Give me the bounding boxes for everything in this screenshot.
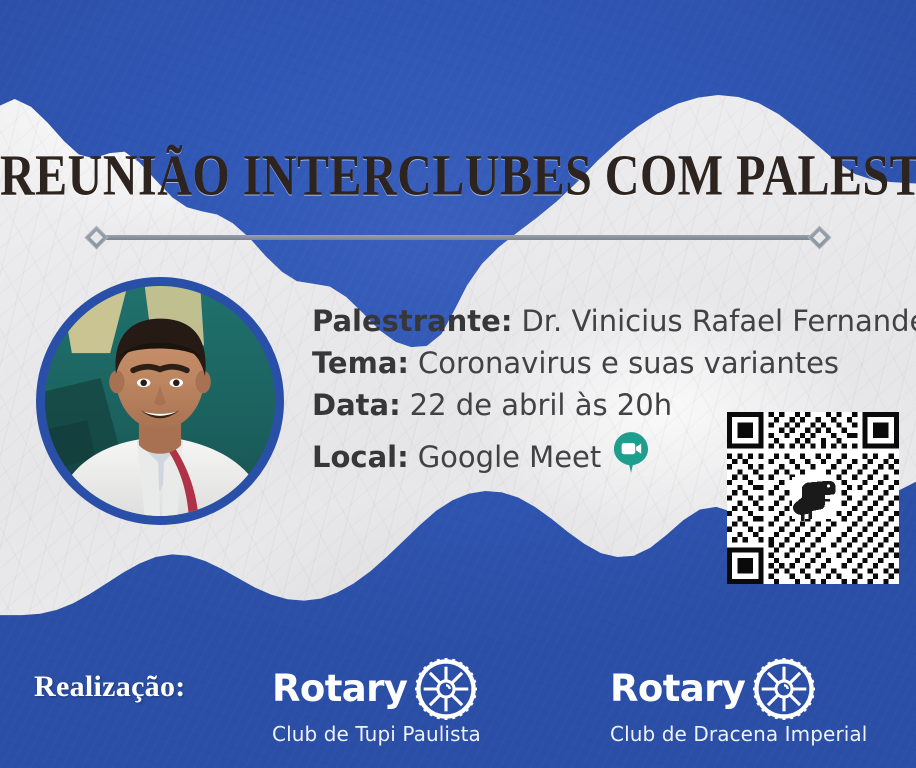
divider-ornament (88, 228, 828, 246)
detail-label-location: Local: (312, 436, 409, 478)
portrait-photo-icon (45, 286, 275, 516)
speaker-photo (36, 277, 284, 525)
detail-value-topic: Coronavirus e suas variantes (418, 342, 839, 384)
google-meet-icon[interactable] (614, 432, 648, 466)
detail-label-speaker: Palestrante: (312, 300, 512, 342)
event-poster: REUNIÃO INTERCLUBES COM PALESTRA (0, 0, 916, 768)
detail-value-date: 22 de abril às 20h (410, 384, 672, 426)
club-name: Club de Tupi Paulista (272, 722, 523, 746)
divider-bar (104, 235, 812, 240)
club-wordmark-row: Rotary (610, 658, 911, 720)
club-tupi-paulista: Rotary (272, 658, 523, 746)
rotary-wordmark: Rotary (610, 667, 745, 711)
detail-row-speaker: Palestrante: Dr. Vinicius Rafael Fernand… (312, 300, 912, 342)
google-meet-glyph (614, 432, 648, 473)
rotary-wheel-icon (753, 658, 815, 720)
qr-code-matrix (727, 412, 899, 584)
realizacao-label: Realização: (34, 670, 186, 704)
rotary-wordmark: Rotary (272, 667, 407, 711)
detail-label-topic: Tema: (312, 342, 409, 384)
detail-value-speaker: Dr. Vinicius Rafael Fernandes (521, 300, 916, 342)
detail-value-location: Google Meet (418, 436, 602, 478)
footer: Realização: Rotary (0, 656, 916, 768)
diamond-right-icon (807, 225, 831, 249)
club-name: Club de Dracena Imperial (610, 722, 911, 746)
detail-label-date: Data: (312, 384, 401, 426)
page-title: REUNIÃO INTERCLUBES COM PALESTRA (0, 142, 916, 209)
diamond-left-icon (84, 225, 108, 249)
detail-row-topic: Tema: Coronavirus e suas variantes (312, 342, 912, 384)
club-dracena-imperial: Rotary (610, 658, 911, 746)
club-wordmark-row: Rotary (272, 658, 523, 720)
rotary-wheel-icon (415, 658, 477, 720)
qr-code[interactable] (727, 412, 899, 584)
